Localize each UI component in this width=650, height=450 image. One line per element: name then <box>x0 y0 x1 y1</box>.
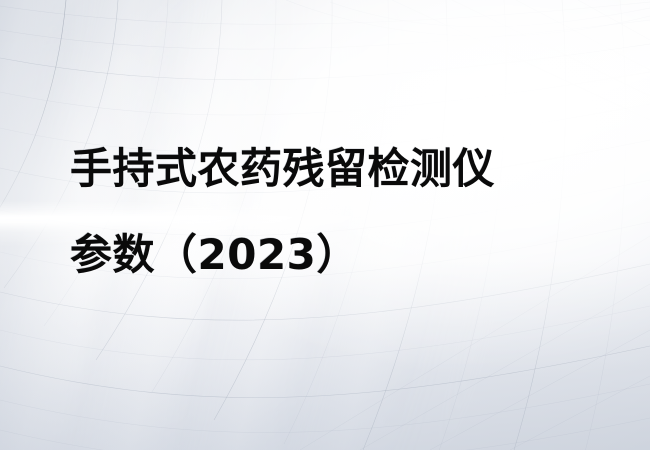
mesh-upper-arcs <box>286 0 650 36</box>
title-banner: 手持式农药残留检测仪 参数（2023） <box>0 0 650 450</box>
title-line-2: 参数（2023） <box>70 212 610 298</box>
title-line-1: 手持式农药残留检测仪 <box>70 126 610 212</box>
title-block: 手持式农药残留检测仪 参数（2023） <box>70 126 610 298</box>
